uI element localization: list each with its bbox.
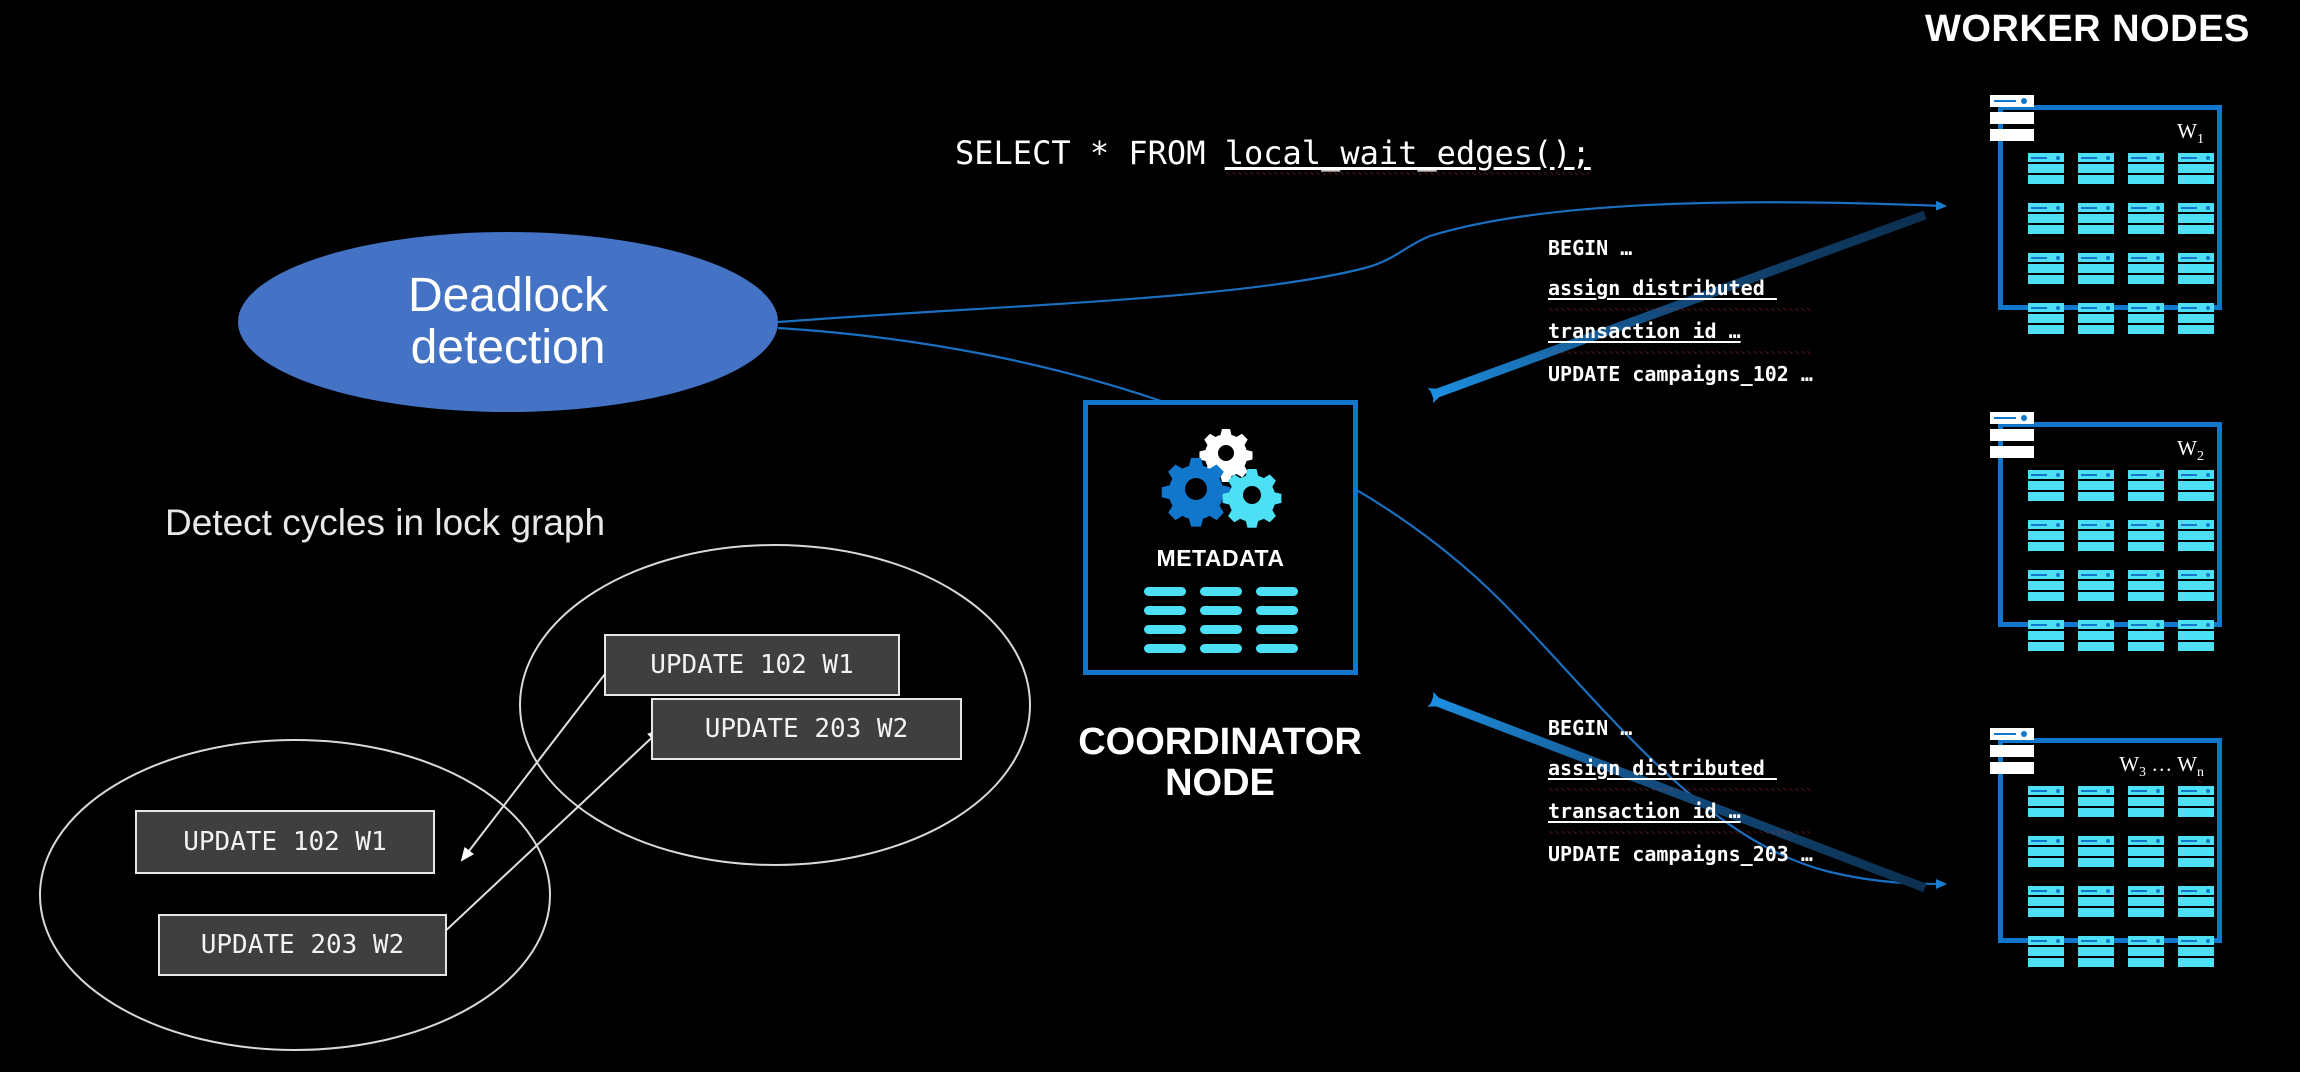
- worker-1-label-sub: 1: [2197, 132, 2204, 147]
- worker-node-2[interactable]: W2: [1990, 412, 2222, 627]
- worker-3-label-sub2: n: [2197, 765, 2204, 783]
- shard-block: [2078, 886, 2114, 919]
- metadata-label: METADATA: [1088, 545, 1353, 572]
- shard-block: [2028, 936, 2064, 969]
- sql-prefix: SELECT * FROM: [955, 134, 1225, 172]
- shard-block: [2128, 570, 2164, 603]
- worker-2-label: W2: [2177, 436, 2204, 465]
- shard-block: [2128, 620, 2164, 653]
- shard-block: [2028, 836, 2064, 869]
- server-icon-bar: [1990, 745, 2034, 757]
- shard-block: [2178, 520, 2214, 553]
- worker-2-label-text: W: [2177, 436, 2197, 460]
- worker-3-shard-grid: [2028, 786, 2214, 969]
- shard-block: [2128, 253, 2164, 286]
- shard-block: [2078, 203, 2114, 236]
- deadlock-label-line2: detection: [411, 321, 606, 374]
- shard-block: [2178, 836, 2214, 869]
- shard-block: [2128, 520, 2164, 553]
- shard-block: [2128, 203, 2164, 236]
- metadata-bar: [1256, 587, 1298, 596]
- shard-block: [2078, 153, 2114, 186]
- metadata-bar: [1200, 644, 1242, 653]
- lock-node-left-203[interactable]: UPDATE 203 W2: [158, 914, 447, 976]
- coordinator-title-line2: NODE: [1060, 763, 1380, 804]
- shard-block: [2078, 520, 2114, 553]
- deadlock-detection-ellipse[interactable]: Deadlock detection: [238, 232, 778, 412]
- worker-nodes-title: WORKER NODES: [1925, 8, 2250, 51]
- shard-block: [2028, 153, 2064, 186]
- shard-block: [2028, 470, 2064, 503]
- metadata-bar: [1144, 587, 1186, 596]
- shard-block: [2178, 470, 2214, 503]
- lock-node-left-102[interactable]: UPDATE 102 W1: [135, 810, 435, 874]
- shard-block: [2028, 786, 2064, 819]
- shard-block: [2078, 620, 2114, 653]
- server-stack-icon: [1990, 95, 2034, 142]
- shard-block: [2178, 786, 2214, 819]
- transaction-block-203: BEGIN … assign_distributed_ transaction_…: [1548, 708, 1813, 874]
- server-icon-bar: [1990, 129, 2034, 141]
- worker-1-shard-grid: [2028, 153, 2214, 336]
- server-icon-bar: [1990, 762, 2034, 774]
- deadlock-label-line1: Deadlock: [408, 269, 608, 322]
- transaction-block-102: BEGIN … assign_distributed_ transaction_…: [1548, 228, 1813, 394]
- shard-block: [2078, 836, 2114, 869]
- worker-3-label: W3 … Wn: [2119, 752, 2204, 781]
- worker-1-label-text: W: [2177, 119, 2197, 143]
- metadata-bar: [1144, 606, 1186, 615]
- shard-block: [2028, 886, 2064, 919]
- server-icon-bar: [1990, 728, 2034, 740]
- shard-block: [2128, 470, 2164, 503]
- server-icon-bar: [1990, 446, 2034, 458]
- server-icon-bar: [1990, 112, 2034, 124]
- lock-node-right-203[interactable]: UPDATE 203 W2: [651, 698, 962, 760]
- shard-block: [2128, 936, 2164, 969]
- metadata-bar: [1256, 606, 1298, 615]
- shard-block: [2128, 836, 2164, 869]
- coordinator-node-title: COORDINATOR NODE: [1060, 722, 1380, 804]
- shard-block: [2028, 253, 2064, 286]
- txn-203-line-txid: transaction_id …: [1548, 791, 1813, 834]
- txn-102-line-assign: assign_distributed_: [1548, 268, 1813, 311]
- shard-block: [2028, 520, 2064, 553]
- detect-cycles-caption: Detect cycles in lock graph: [165, 502, 605, 544]
- worker-3-label-text: W: [2119, 752, 2139, 776]
- metadata-bar: [1200, 625, 1242, 634]
- slide-canvas: WORKER NODES COORDINATOR NODE Deadlock d…: [0, 0, 2300, 1072]
- gears-icon: [1156, 427, 1286, 532]
- worker-3-label-sub: 3: [2139, 765, 2146, 780]
- sql-function-name: local_wait_edges();: [1225, 134, 1591, 175]
- shard-block: [2078, 570, 2114, 603]
- gear-blue-icon: [1161, 458, 1230, 527]
- shard-block: [2028, 570, 2064, 603]
- lock-node-right-102[interactable]: UPDATE 102 W1: [604, 634, 900, 696]
- shard-block: [2178, 153, 2214, 186]
- server-stack-icon: [1990, 412, 2034, 459]
- server-icon-bar: [1990, 412, 2034, 424]
- worker-1-label: W1: [2177, 119, 2204, 148]
- lock-group-left-ellipse: [40, 740, 550, 1050]
- shard-block: [2128, 886, 2164, 919]
- server-icon-bar: [1990, 95, 2034, 107]
- txn-102-line-begin: BEGIN …: [1548, 228, 1813, 268]
- txn-102-line-txid: transaction_id …: [1548, 311, 1813, 354]
- shard-block: [2078, 303, 2114, 336]
- deadlock-detection-label: Deadlock detection: [408, 270, 608, 374]
- txn-203-line-update: UPDATE campaigns_203 …: [1548, 834, 1813, 874]
- server-stack-icon: [1990, 728, 2034, 775]
- metadata-bar: [1256, 644, 1298, 653]
- shard-block: [2128, 153, 2164, 186]
- txn-102-line-update: UPDATE campaigns_102 …: [1548, 354, 1813, 394]
- shard-block: [2178, 203, 2214, 236]
- worker-node-3[interactable]: W3 … Wn: [1990, 728, 2222, 943]
- worker-node-1[interactable]: W1: [1990, 95, 2222, 310]
- metadata-bar: [1256, 625, 1298, 634]
- metadata-bar: [1144, 644, 1186, 653]
- shard-block: [2128, 303, 2164, 336]
- server-icon-bar: [1990, 429, 2034, 441]
- sql-query-text: SELECT * FROM local_wait_edges();: [955, 134, 1591, 172]
- shard-block: [2028, 620, 2064, 653]
- shard-block: [2178, 886, 2214, 919]
- shard-block: [2178, 936, 2214, 969]
- metadata-bar: [1144, 625, 1186, 634]
- txn-203-line-assign: assign_distributed_: [1548, 748, 1813, 791]
- coordinator-node-box[interactable]: METADATA: [1083, 400, 1358, 675]
- shard-block: [2078, 470, 2114, 503]
- shard-block: [2178, 620, 2214, 653]
- shard-block: [2128, 786, 2164, 819]
- txn-203-line-begin: BEGIN …: [1548, 708, 1813, 748]
- metadata-bar: [1200, 606, 1242, 615]
- shard-block: [2028, 303, 2064, 336]
- shard-block: [2178, 570, 2214, 603]
- coordinator-title-line1: COORDINATOR: [1060, 722, 1380, 763]
- shard-block: [2028, 203, 2064, 236]
- metadata-bar: [1200, 587, 1242, 596]
- gear-cyan-icon: [1222, 469, 1281, 528]
- shard-block: [2078, 786, 2114, 819]
- cycle-edge-a-to-c: [462, 648, 625, 860]
- worker-2-shard-grid: [2028, 470, 2214, 653]
- shard-block: [2078, 936, 2114, 969]
- shard-block: [2078, 253, 2114, 286]
- metadata-bars: [1144, 587, 1298, 653]
- shard-block: [2178, 303, 2214, 336]
- worker-3-label-suffix: … W: [2146, 752, 2197, 776]
- worker-2-label-sub: 2: [2197, 449, 2204, 464]
- shard-block: [2178, 253, 2214, 286]
